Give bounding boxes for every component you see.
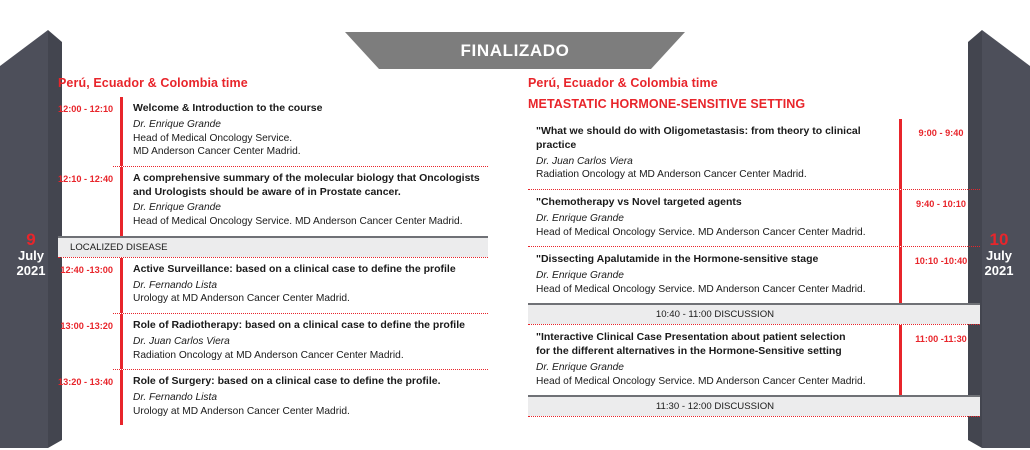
row-title: "Interactive Clinical Case Presentation … [536, 331, 891, 345]
row-affiliation: Head of Medical Oncology Service. MD And… [536, 283, 891, 297]
row-body: Welcome & Introduction to the course Dr.… [123, 97, 488, 166]
row-title: Welcome & Introduction to the course [133, 102, 488, 116]
row-time: 10:10 -10:40 [902, 247, 980, 266]
row-speaker: Dr. Enrique Grande [133, 201, 488, 215]
row-affiliation: Head of Medical Oncology Service. [133, 132, 488, 146]
agenda-row[interactable]: "Chemotherapy vs Novel targeted agents D… [528, 190, 980, 246]
row-affiliation: Head of Medical Oncology Service. MD And… [133, 215, 488, 229]
row-affiliation: Head of Medical Oncology Service. MD And… [536, 375, 891, 389]
row-title: "Chemotherapy vs Novel targeted agents [536, 196, 891, 210]
row-body: "Dissecting Apalutamide in the Hormone-s… [528, 247, 899, 303]
status-banner-label: FINALIZADO [345, 32, 685, 69]
row-time: 12:40 -13:00 [58, 258, 120, 275]
row-time: 9:40 - 10:10 [902, 190, 980, 209]
date-slab-left: 9 July 2021 [0, 30, 62, 448]
row-body: Active Surveillance: based on a clinical… [123, 258, 488, 313]
row-affiliation: Urology at MD Anderson Cancer Center Mad… [133, 292, 488, 306]
row-title: "What we should do with Oligometastasis:… [536, 125, 891, 153]
row-affiliation: Urology at MD Anderson Cancer Center Mad… [133, 405, 488, 419]
agenda-row[interactable]: 13:20 - 13:40 Role of Surgery: based on … [58, 370, 488, 425]
row-time: 12:00 - 12:10 [58, 97, 120, 114]
row-title: Role of Radiotherapy: based on a clinica… [133, 319, 488, 333]
row-speaker: Dr. Fernando Lista [133, 391, 488, 405]
row-speaker: Dr. Enrique Grande [536, 361, 891, 375]
row-title: Role of Surgery: based on a clinical cas… [133, 375, 488, 389]
row-time: 13:20 - 13:40 [58, 370, 120, 387]
date-left-month: July [0, 249, 62, 264]
row-title: A comprehensive summary of the molecular… [133, 172, 488, 200]
row-body: "Interactive Clinical Case Presentation … [528, 325, 899, 395]
agenda-row[interactable]: "What we should do with Oligometastasis:… [528, 119, 980, 189]
day2-timezone-title: Perú, Ecuador & Colombia time [528, 76, 980, 90]
row-title-line2: for the different alternatives in the Ho… [536, 345, 891, 359]
row-affiliation: Head of Medical Oncology Service. MD And… [536, 226, 891, 240]
discussion-band: 11:30 - 12:00 DISCUSSION [528, 395, 980, 416]
row-speaker: Dr. Enrique Grande [133, 118, 488, 132]
row-speaker: Dr. Fernando Lista [133, 279, 488, 293]
row-speaker: Dr. Enrique Grande [536, 269, 891, 283]
agenda-row[interactable]: "Interactive Clinical Case Presentation … [528, 325, 980, 395]
date-left-year: 2021 [0, 264, 62, 279]
row-body: Role of Radiotherapy: based on a clinica… [123, 314, 488, 369]
discussion-band-label: 11:30 - 12:00 DISCUSSION [656, 401, 774, 412]
row-time: 9:00 - 9:40 [902, 119, 980, 138]
row-speaker: Dr. Enrique Grande [536, 212, 891, 226]
agenda-row[interactable]: 13:00 -13:20 Role of Radiotherapy: based… [58, 314, 488, 369]
agenda-stage: 9 July 2021 10 July 2021 FINALIZADO Perú… [0, 0, 1030, 450]
row-affiliation: Radiation Oncology at MD Anderson Cancer… [536, 168, 891, 182]
row-affiliation: Radiation Oncology at MD Anderson Cancer… [133, 349, 488, 363]
row-speaker: Dr. Juan Carlos Viera [133, 335, 488, 349]
section-band-label: LOCALIZED DISEASE [70, 242, 168, 253]
section-band-localized-disease: LOCALIZED DISEASE [58, 236, 488, 257]
day2-column: Perú, Ecuador & Colombia time METASTATIC… [528, 76, 980, 417]
agenda-row[interactable]: 12:10 - 12:40 A comprehensive summary of… [58, 167, 488, 236]
agenda-row[interactable]: 12:40 -13:00 Active Surveillance: based … [58, 258, 488, 313]
day1-timezone-title: Perú, Ecuador & Colombia time [58, 76, 488, 90]
row-time: 11:00 -11:30 [902, 325, 980, 344]
date-left: 9 July 2021 [0, 230, 62, 278]
agenda-row[interactable]: "Dissecting Apalutamide in the Hormone-s… [528, 247, 980, 303]
row-title: "Dissecting Apalutamide in the Hormone-s… [536, 253, 891, 267]
row-affiliation-2: MD Anderson Cancer Center Madrid. [133, 145, 488, 159]
row-time: 13:00 -13:20 [58, 314, 120, 331]
discussion-band-label: 10:40 - 11:00 DISCUSSION [656, 309, 774, 320]
row-body: Role of Surgery: based on a clinical cas… [123, 370, 488, 425]
row-body: "What we should do with Oligometastasis:… [528, 119, 899, 189]
row-divider [528, 416, 980, 417]
day1-column: Perú, Ecuador & Colombia time 12:00 - 12… [58, 76, 488, 425]
row-body: A comprehensive summary of the molecular… [123, 167, 488, 236]
status-banner: FINALIZADO [345, 32, 685, 69]
day2-section-title: METASTATIC HORMONE-SENSITIVE SETTING [528, 97, 980, 111]
agenda-row[interactable]: 12:00 - 12:10 Welcome & Introduction to … [58, 97, 488, 166]
discussion-band: 10:40 - 11:00 DISCUSSION [528, 303, 980, 324]
row-time: 12:10 - 12:40 [58, 167, 120, 184]
date-left-day: 9 [0, 230, 62, 249]
row-body: "Chemotherapy vs Novel targeted agents D… [528, 190, 899, 246]
row-speaker: Dr. Juan Carlos Viera [536, 155, 891, 169]
row-title: Active Surveillance: based on a clinical… [133, 263, 488, 277]
